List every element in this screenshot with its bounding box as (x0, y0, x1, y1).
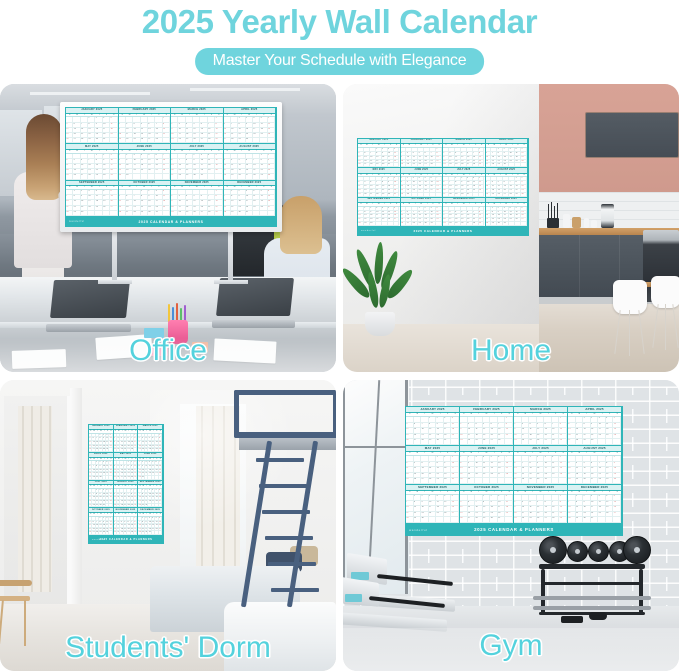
weekday-label: S (568, 491, 576, 494)
weekday-label: S (110, 114, 117, 117)
calendar-day-cell: 29 (260, 174, 267, 179)
calendar-month: NOVEMBER 2025SMTWTFS12345678910111213141… (443, 198, 486, 227)
panel-gym[interactable]: JANUARY 2025SMTWTFS123456789101112131415… (343, 380, 679, 671)
calendar-footer: wanderful 2025 CALENDAR & PLANNERS (358, 227, 528, 235)
weekday-label: M (73, 186, 80, 189)
calendar-day-cell: 26 (414, 478, 422, 484)
brand-mark: wanderful (69, 220, 85, 223)
weekday-label: T (421, 452, 429, 455)
calendar-day-grid: 1234567891011121314151617181920212223242… (443, 207, 485, 226)
person-hair (280, 196, 322, 254)
calendar-day-cell: 31 (246, 211, 253, 216)
weekday-label: S (119, 150, 126, 153)
calendar-day-cell: 23 (460, 439, 468, 445)
calendar-day-cell (103, 211, 110, 216)
calendar-month: OCTOBER 2025SMTWTFS123456789101112131415… (460, 485, 514, 524)
weekday-label: T (490, 491, 498, 494)
chair-leg (614, 310, 621, 354)
weekday-label: M (576, 413, 584, 416)
weekday-label: T (436, 413, 444, 416)
weekday-label: T (529, 452, 537, 455)
calendar-day-cell (88, 211, 95, 216)
curtain-left (18, 406, 52, 592)
calendar-day-cell: 29 (141, 211, 148, 216)
calendar-day-cell: 26 (537, 517, 545, 523)
calendar-day-cell: 28 (224, 211, 231, 216)
weekday-label: T (133, 150, 140, 153)
weekday-label: S (521, 144, 527, 147)
calendar-day-cell: 29 (159, 448, 162, 452)
weekday-label: T (598, 491, 606, 494)
calendar-day-cell (253, 138, 260, 143)
calendar-day-cell (490, 478, 498, 484)
calendar-day-cell: 26 (119, 211, 126, 216)
calendar-day-grid: 1234567891011121314151617181920212223242… (114, 461, 138, 479)
calendar-day-grid: 1234567891011121314151617181920212223242… (138, 517, 162, 535)
calendar-day-cell: 28 (231, 138, 238, 143)
calendar-day-cell: 29 (414, 517, 422, 523)
bunk-bed-ladder (230, 382, 336, 610)
home-scene: JANUARY 2025SMTWTFS123456789101112131415… (343, 84, 679, 372)
calendar-day-cell: 27 (514, 478, 522, 484)
calendar-day-cell (552, 478, 560, 484)
weekday-label: T (529, 491, 537, 494)
weekday-label: S (514, 491, 522, 494)
calendar-month: JANUARY 2025SMTWTFS123456789101112131415… (89, 425, 114, 453)
calendar-month: SEPTEMBER 2025SMTWTFS1234567891011121314… (406, 485, 460, 524)
wall-calendar-gym[interactable]: JANUARY 2025SMTWTFS123456789101112131415… (405, 406, 623, 536)
panel-grid: JANUARY 2025SMTWTFS123456789101112131415… (0, 84, 679, 671)
calendar-day-cell (436, 193, 442, 197)
calendar-day-cell: 24 (178, 138, 185, 143)
weekday-label: M (522, 491, 530, 494)
calendar-day-grid: 1234567891011121314151617181920212223242… (514, 456, 567, 484)
weekday-label: T (238, 186, 245, 189)
weekday-label: F (552, 491, 560, 494)
calendar-day-cell (505, 517, 513, 523)
calendar-day-cell (436, 222, 442, 226)
calendar-day-cell (109, 476, 112, 480)
weekday-label: S (109, 485, 112, 488)
calendar-day-cell: 25 (576, 478, 584, 484)
dorm-scene: JANUARY 2025SMTWTFS123456789101112131415… (0, 380, 336, 671)
weekday-label: M (414, 491, 422, 494)
calendar-day-cell: 28 (522, 478, 530, 484)
weekday-label: F (155, 150, 162, 153)
weekday-label: T (200, 114, 207, 117)
calendar-day-cell: 26 (238, 174, 245, 179)
calendar-day-cell: 30 (193, 174, 200, 179)
calendar-day-grid: 1234567891011121314151617181920212223242… (406, 417, 459, 445)
weekday-label: M (126, 150, 133, 153)
weekday-label: S (514, 452, 522, 455)
calendar-day-cell: 29 (73, 211, 80, 216)
weekday-label: S (224, 150, 231, 153)
ladder-rung (256, 458, 304, 462)
calendar-day-cell: 27 (224, 138, 231, 143)
weekday-label: M (468, 452, 476, 455)
calendar-day-cell: 27 (591, 478, 599, 484)
weekday-label: S (394, 203, 400, 206)
chair-leg (665, 304, 666, 350)
calendar-day-grid: 1234567891011121314151617181920212223242… (224, 190, 276, 216)
calendar-day-cell: 29 (576, 517, 584, 523)
calendar-day-cell: 26 (483, 439, 491, 445)
calendar-day-cell (134, 448, 137, 452)
calendar-day-cell: 28 (475, 517, 483, 523)
weekday-label: S (109, 430, 112, 433)
calendar-day-cell: 29 (460, 478, 468, 484)
calendar-day-cell: 27 (544, 439, 552, 445)
brand-mark: wanderful (92, 539, 106, 541)
weekday-label: W (88, 186, 95, 189)
calendar-day-cell: 30 (134, 504, 137, 508)
laptop-keyboard (212, 320, 295, 328)
weekday-label: S (134, 513, 137, 516)
bunk-frame (234, 388, 336, 454)
calendar-day-cell: 29 (238, 138, 245, 143)
calendar-footer-text: 2025 CALENDAR & PLANNERS (139, 220, 204, 224)
calendar-day-grid: 1234567891011121314151617181920212223242… (486, 177, 528, 196)
calendar-day-grid: 1234567891011121314151617181920212223242… (358, 177, 400, 196)
weekday-label: T (253, 114, 260, 117)
panel-home[interactable]: JANUARY 2025SMTWTFS123456789101112131415… (343, 84, 679, 372)
calendar-day-cell: 26 (193, 211, 200, 216)
weekday-label: M (522, 452, 530, 455)
calendar-footer-text: 2025 CALENDAR & PLANNERS (99, 538, 152, 541)
chair-back (613, 280, 647, 314)
calendar-day-cell: 28 (253, 174, 260, 179)
potted-plant (349, 242, 413, 320)
calendar-day-cell: 27 (81, 174, 88, 179)
calendar-day-cell: 28 (552, 517, 560, 523)
weekday-label: F (498, 491, 506, 494)
calendar-day-cell: 30 (444, 478, 452, 484)
weekday-label: S (460, 452, 468, 455)
canister (563, 214, 570, 228)
weekday-label: T (583, 413, 591, 416)
calendar-day-cell: 24 (468, 439, 476, 445)
product-infographic: 2025 Yearly Wall Calendar Master Your Sc… (0, 0, 679, 671)
calendar-day-cell (479, 193, 485, 197)
weekday-label: T (475, 413, 483, 416)
calendar-footer: wanderful 2025 CALENDAR & PLANNERS (89, 536, 163, 543)
calendar-footer-text: 2025 CALENDAR & PLANNERS (413, 229, 472, 233)
weekday-label: F (552, 413, 560, 416)
calendar-day-cell: 30 (521, 193, 527, 197)
weekday-label: S (479, 203, 485, 206)
calendar-month: MAY 2025SMTWTFS1234567891011121314151617… (358, 168, 401, 197)
weekday-label: T (253, 150, 260, 153)
weekday-label: S (215, 150, 222, 153)
calendar-day-cell: 25 (186, 138, 193, 143)
calendar-month: APRIL 2025SMTWTFS12345678910111213141516… (224, 108, 277, 144)
calendar-day-cell (110, 211, 117, 216)
calendar-day-cell: 30 (537, 478, 545, 484)
calendar-month: FEBRUARY 2025SMTWTFS12345678910111213141… (460, 407, 514, 446)
calendar-day-cell (109, 504, 112, 508)
calendar-day-cell: 25 (186, 211, 193, 216)
weekday-label: S (394, 144, 400, 147)
weekday-label: T (436, 491, 444, 494)
calendar-day-grid: 1234567891011121314151617181920212223242… (358, 207, 400, 226)
barbell (533, 606, 651, 610)
weekday-label: T (238, 150, 245, 153)
calendar-month-grid: JANUARY 2025SMTWTFS123456789101112131415… (89, 425, 163, 536)
calendar-day-cell: 24 (126, 138, 133, 143)
weekday-label: S (109, 458, 112, 461)
weekday-label: F (208, 150, 215, 153)
calendar-month: JULY 2025SMTWTFS123456789101112131415161… (89, 481, 114, 509)
weekday-label: T (238, 114, 245, 117)
chair-leg (0, 600, 4, 644)
bunk-mattress (239, 438, 336, 450)
plant-pot (365, 312, 395, 336)
calendar-month: MAY 2025SMTWTFS1234567891011121314151617… (406, 446, 460, 485)
weekday-label: F (552, 452, 560, 455)
weekday-label: S (268, 150, 275, 153)
calendar-day-grid: 1234567891011121314151617181920212223242… (89, 489, 113, 507)
floor-reflection (343, 628, 679, 671)
calendar-day-cell (444, 517, 452, 523)
calendar-day-cell (598, 439, 606, 445)
calendar-day-cell (606, 439, 614, 445)
calendar-day-cell: 23 (119, 138, 126, 143)
calendar-month: MARCH 2025SMTWTFS12345678910111213141516… (138, 425, 163, 453)
weekday-label: T (95, 186, 102, 189)
calendar-month: JUNE 2025SMTWTFS123456789101112131415161… (401, 168, 444, 197)
calendar-month-grid: JANUARY 2025SMTWTFS123456789101112131415… (358, 139, 528, 227)
calendar-day-cell: 28 (208, 211, 215, 216)
calendar-day-cell: 31 (544, 478, 552, 484)
weekday-label: W (591, 452, 599, 455)
weekday-label: W (141, 186, 148, 189)
weekday-label: S (119, 114, 126, 117)
calendar-day-cell (215, 174, 222, 179)
calendar-day-cell: 27 (544, 517, 552, 523)
bunk-rail (234, 390, 336, 395)
weekday-label: M (231, 114, 238, 117)
weekday-label: S (521, 174, 527, 177)
calendar-day-cell: 25 (406, 478, 414, 484)
weekday-label: T (475, 452, 483, 455)
calendar-day-grid: 1234567891011121314151617181920212223242… (138, 489, 162, 507)
calendar-day-cell: 29 (134, 531, 137, 535)
weekday-label: W (429, 491, 437, 494)
calendar-month: NOVEMBER 2025SMTWTFS12345678910111213141… (114, 508, 139, 536)
calendar-day-cell: 26 (141, 138, 148, 143)
weekday-label: S (159, 430, 162, 433)
weekday-label: S (394, 174, 400, 177)
treadmill-handrail (369, 596, 445, 608)
calendar-day-grid: 1234567891011121314151617181920212223242… (486, 148, 528, 167)
weekday-label: S (66, 150, 73, 153)
treadmill-console (343, 577, 379, 607)
calendar-month-grid: JANUARY 2025SMTWTFS123456789101112131415… (406, 407, 622, 524)
calendar-day-cell: 30 (95, 138, 102, 143)
weekday-label: S (613, 413, 621, 416)
calendar-day-cell: 28 (552, 439, 560, 445)
calendar-day-cell (475, 478, 483, 484)
weekday-label: T (598, 452, 606, 455)
calendar-day-grid: 1234567891011121314151617181920212223242… (89, 434, 113, 452)
plate-hub (596, 549, 601, 554)
bunk-post (333, 390, 336, 438)
weekday-label: S (163, 150, 170, 153)
calendar-day-cell: 24 (522, 517, 530, 523)
calendar-month: APRIL 2025SMTWTFS12345678910111213141516… (568, 407, 622, 446)
ladder-rung (268, 562, 316, 566)
weekday-label: S (134, 485, 137, 488)
weekday-label: W (537, 452, 545, 455)
calendar-day-cell (394, 163, 400, 167)
weekday-label: S (215, 114, 222, 117)
calendar-day-cell: 25 (66, 174, 73, 179)
weekday-label: S (171, 114, 178, 117)
calendar-day-cell: 31 (394, 193, 400, 197)
weekday-label: T (583, 491, 591, 494)
weekday-label: T (490, 413, 498, 416)
weekday-label: S (613, 452, 621, 455)
calendar-day-cell: 25 (529, 439, 537, 445)
weekday-label: W (591, 413, 599, 416)
weekday-label: T (421, 491, 429, 494)
calendar-day-cell: 23 (514, 439, 522, 445)
weekday-label: S (268, 114, 275, 117)
calendar-day-cell: 28 (598, 478, 606, 484)
calendar-day-cell: 26 (73, 174, 80, 179)
panel-office[interactable]: JANUARY 2025SMTWTFS123456789101112131415… (0, 84, 336, 372)
calendar-day-cell (163, 211, 170, 216)
calendar-month: JANUARY 2025SMTWTFS123456789101112131415… (358, 139, 401, 168)
calendar-day-cell (505, 439, 513, 445)
calendar-day-cell: 29 (529, 478, 537, 484)
ladder-rung (259, 484, 307, 488)
wall-calendar-home[interactable]: JANUARY 2025SMTWTFS123456789101112131415… (357, 138, 529, 236)
weekday-label: T (598, 413, 606, 416)
calendar-day-grid: 1234567891011121314151617181920212223242… (460, 417, 513, 445)
calendar-day-cell (163, 138, 170, 143)
window-mullion (343, 446, 407, 448)
weekday-label: S (451, 452, 459, 455)
calendar-footer: wanderful 2025 CALENDAR & PLANNERS (406, 524, 622, 535)
calendar-day-cell: 23 (514, 517, 522, 523)
calendar-month: NOVEMBER 2025SMTWTFS12345678910111213141… (514, 485, 568, 524)
calendar-month: APRIL 2025SMTWTFS12345678910111213141516… (486, 139, 529, 168)
ladder-rail (287, 441, 318, 608)
calendar-day-cell: 27 (414, 439, 422, 445)
calendar-day-grid: 1234567891011121314151617181920212223242… (114, 434, 138, 452)
calendar-month: AUGUST 2025SMTWTFS1234567891011121314151… (486, 168, 529, 197)
board-stand-leg (228, 232, 233, 282)
calendar-day-grid: 1234567891011121314151617181920212223242… (119, 154, 171, 180)
calendar-day-cell (159, 476, 162, 480)
panel-dorm[interactable]: JANUARY 2025SMTWTFS123456789101112131415… (0, 380, 336, 671)
calendar-day-cell (521, 222, 527, 226)
calendar-day-cell (436, 163, 442, 167)
laptop-keyboard (46, 324, 131, 332)
weekday-label: F (155, 186, 162, 189)
weekday-label: T (529, 413, 537, 416)
wall-calendar-office[interactable]: JANUARY 2025SMTWTFS123456789101112131415… (65, 107, 277, 227)
weekday-label: M (414, 413, 422, 416)
weekday-label: S (436, 144, 442, 147)
calendar-day-cell: 30 (268, 174, 275, 179)
calendar-month: DECEMBER 2025SMTWTFS12345678910111213141… (568, 485, 622, 524)
weekday-label: W (88, 114, 95, 117)
weekday-label: M (73, 150, 80, 153)
calendar-day-cell (268, 211, 275, 216)
calendar-day-cell (613, 517, 621, 523)
sticky-note (144, 328, 164, 338)
weekday-label: T (200, 186, 207, 189)
calendar-day-grid: 1234567891011121314151617181920212223242… (224, 117, 276, 143)
weekday-label: S (568, 452, 576, 455)
calendar-day-grid: 1234567891011121314151617181920212223242… (568, 456, 621, 484)
calendar-day-cell: 31 (134, 476, 137, 480)
calendar-day-cell: 31 (498, 517, 506, 523)
weekday-label: S (521, 203, 527, 206)
calendar-month: JUNE 2025SMTWTFS123456789101112131415161… (138, 453, 163, 481)
weekday-label: M (178, 114, 185, 117)
calendar-month: JANUARY 2025SMTWTFS123456789101112131415… (66, 108, 119, 144)
calendar-day-cell: 24 (568, 478, 576, 484)
weekday-label: F (606, 413, 614, 416)
header: 2025 Yearly Wall Calendar Master Your Sc… (0, 0, 679, 82)
weekday-label: S (436, 174, 442, 177)
weekday-label: S (110, 150, 117, 153)
calendar-day-cell: 29 (559, 439, 567, 445)
weekday-label: T (475, 491, 483, 494)
ladder-rail (241, 441, 272, 608)
calendar-day-cell: 26 (66, 138, 73, 143)
cabinet-seam (579, 235, 580, 297)
calendar-day-cell (451, 439, 459, 445)
calendar-day-cell: 29 (88, 138, 95, 143)
wall-calendar-dorm[interactable]: JANUARY 2025SMTWTFS123456789101112131415… (88, 424, 164, 544)
weekday-label: S (119, 186, 126, 189)
calendar-month: JANUARY 2025SMTWTFS123456789101112131415… (406, 407, 460, 446)
weekday-label: W (193, 186, 200, 189)
weekday-label: F (260, 186, 267, 189)
calendar-day-cell: 25 (475, 439, 483, 445)
weekday-label: T (583, 452, 591, 455)
weekday-label: W (483, 413, 491, 416)
calendar-day-cell: 26 (537, 439, 545, 445)
calendar-day-cell: 29 (186, 174, 193, 179)
weekday-label: F (444, 413, 452, 416)
weekday-label: S (559, 413, 567, 416)
calendar-day-cell: 24 (178, 211, 185, 216)
weekday-label: W (429, 413, 437, 416)
plate-hub (575, 549, 580, 554)
weekday-label: W (429, 452, 437, 455)
weekday-label: W (537, 491, 545, 494)
weekday-label: F (155, 114, 162, 117)
calendar-month: FEBRUARY 2025SMTWTFS12345678910111213141… (119, 108, 172, 144)
ladder-rung (265, 536, 313, 540)
weekday-label: T (81, 150, 88, 153)
calendar-month: AUGUST 2025SMTWTFS1234567891011121314151… (568, 446, 622, 485)
calendar-day-cell: 28 (81, 138, 88, 143)
table-reflection (0, 338, 336, 372)
weekday-label: W (246, 150, 253, 153)
calendar-day-cell (260, 211, 267, 216)
calendar-month: FEBRUARY 2025SMTWTFS12345678910111213141… (114, 425, 139, 453)
calendar-day-cell (208, 174, 215, 179)
calendar-day-cell: 26 (460, 517, 468, 523)
weekday-label: T (200, 150, 207, 153)
